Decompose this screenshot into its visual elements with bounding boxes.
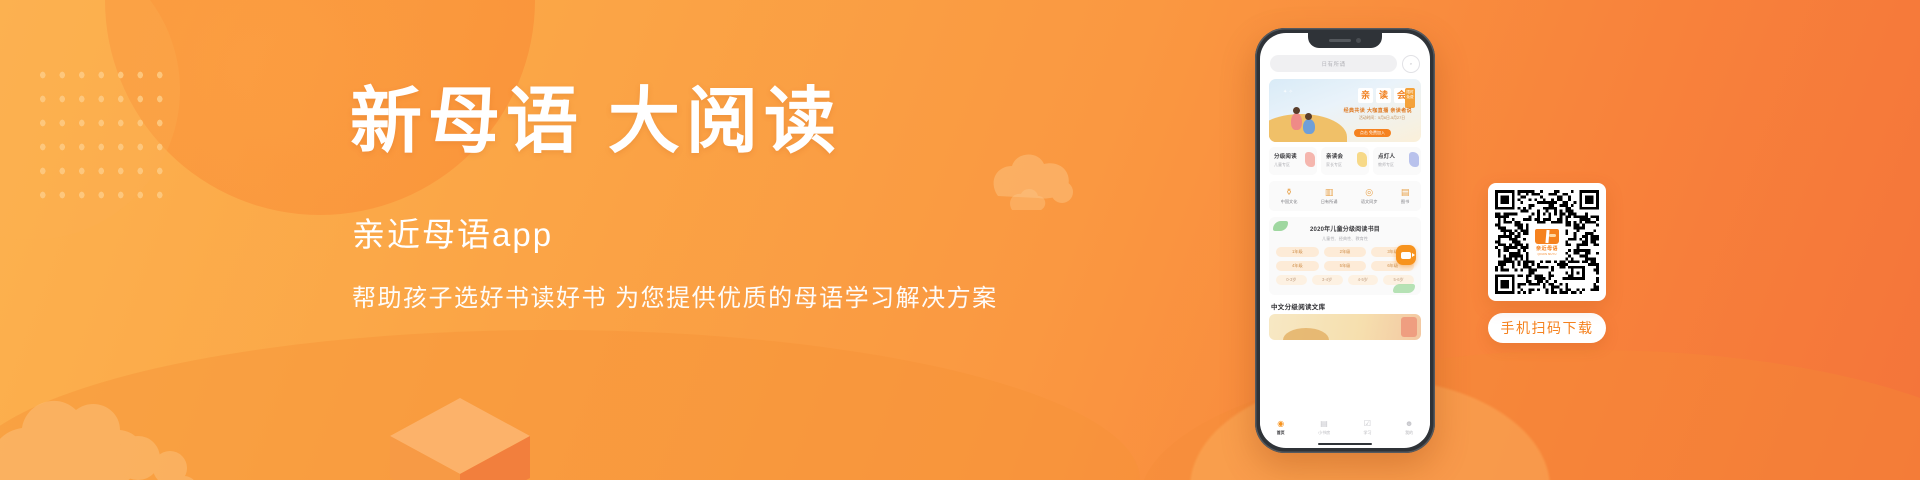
grade-tag-row: 1年级 2年级 3年级 — [1276, 247, 1414, 257]
study-icon: ☑ — [1364, 420, 1371, 428]
leaf-icon — [1393, 284, 1415, 293]
tab-profile[interactable]: ☻ 我的 — [1405, 420, 1413, 436]
quick-nav-label: 中国文化 — [1281, 199, 1298, 205]
age-tag-row: 0-3岁 3-4岁 4-5岁 5-6岁 — [1276, 275, 1414, 285]
bird-icon: ✦ ✧ — [1283, 89, 1293, 95]
cube-decoration-icon — [385, 394, 535, 480]
open-book-icon — [1535, 229, 1559, 244]
library-arc-decoration — [1283, 328, 1329, 340]
grade-tag-group: 1年级 2年级 3年级 4年级 5年级 6年级 0-3岁 3-4岁 4-5岁 5… — [1276, 247, 1414, 285]
bookroom-icon: ▤ — [1320, 420, 1328, 428]
download-button[interactable]: 手机扫码下载 — [1488, 313, 1606, 343]
background-hill-left — [0, 330, 1140, 480]
tab-label: 首页 — [1277, 430, 1285, 436]
phone-notch — [1308, 33, 1382, 48]
hero-badge: 限时免费 — [1405, 88, 1415, 108]
quick-nav-culture[interactable]: ⚱ 中国文化 — [1281, 188, 1298, 205]
age-tag[interactable]: 4-5岁 — [1348, 275, 1379, 285]
recite-icon: ▥ — [1325, 188, 1334, 197]
category-card-teacher[interactable]: 点灯人 教师专区 — [1373, 147, 1421, 175]
dot-grid-pattern — [33, 63, 169, 213]
hero-time: 活动时间：5月6日-5月27日 — [1359, 116, 1405, 121]
hero-banner-card[interactable]: ✦ ✧ 亲 读 会 限时免费 经典共读 大咖直播 亲读者说 活动时间：5月6日-… — [1269, 79, 1421, 142]
page-title: 新母语 大阅读 — [350, 84, 1050, 162]
promo-banner: 新母语 大阅读 亲近母语app 帮助孩子选好书读好书 为您提供优质的母语学习解决… — [0, 0, 1920, 480]
background-circle-small — [0, 0, 180, 240]
quick-nav-label: 语文同步 — [1361, 199, 1378, 205]
hero-join-button[interactable]: 点击 免费加入 — [1354, 129, 1391, 137]
library-section-title: 中文分级阅读文库 — [1271, 301, 1325, 311]
sync-icon: ◎ — [1365, 188, 1373, 197]
booklist-subtitle: 儿童性、经典性、教育性 — [1269, 236, 1421, 242]
quick-nav-recite[interactable]: ▥ 日有所诵 — [1321, 188, 1338, 205]
book-blob-icon — [1305, 152, 1315, 167]
kid-illustration-a — [1291, 113, 1302, 130]
app-search-bar[interactable]: 日有所诵 ⌕ — [1270, 55, 1420, 72]
booklist-card[interactable]: 2020年儿童分级阅读书目 儿童性、经典性、教育性 1年级 2年级 3年级 4年… — [1269, 217, 1421, 295]
search-input[interactable]: 日有所诵 — [1270, 55, 1397, 72]
quick-nav-books[interactable]: ▤ 图书 — [1401, 188, 1410, 205]
person-blob-icon — [1409, 152, 1419, 167]
phone-screen: 日有所诵 ⌕ ✦ ✧ 亲 读 会 限时免费 经典共读 大咖直播 亲读者说 活动时… — [1260, 33, 1430, 448]
book-blob-icon — [1357, 152, 1367, 167]
quick-nav-label: 图书 — [1401, 199, 1409, 205]
tab-label: 小书房 — [1318, 430, 1330, 436]
age-tag[interactable]: 3-4岁 — [1312, 275, 1343, 285]
home-indicator — [1318, 443, 1372, 446]
grade-tag-row: 4年级 5年级 6年级 — [1276, 261, 1414, 271]
banner-description: 帮助孩子选好书读好书 为您提供优质的母语学习解决方案 — [352, 278, 1050, 313]
quick-nav-label: 日有所诵 — [1321, 199, 1338, 205]
category-card-row: 分级阅读 儿童专区 亲读会 家长专区 点灯人 教师专区 — [1269, 147, 1421, 175]
kid-illustration-b — [1303, 119, 1315, 134]
logo-text-cn: 亲近母语 — [1536, 245, 1558, 252]
search-extra-icon[interactable]: ⌕ — [1402, 55, 1420, 73]
grade-tag[interactable]: 4年级 — [1276, 261, 1319, 271]
quick-nav-row: ⚱ 中国文化 ▥ 日有所诵 ◎ 语文同步 ▤ 图书 — [1269, 181, 1421, 211]
qr-card: 亲近母语 QINJIN MUYU — [1488, 183, 1606, 301]
front-camera-icon — [1356, 38, 1361, 43]
home-icon: ◉ — [1277, 420, 1284, 428]
speaker-icon — [1329, 39, 1351, 42]
grade-tag[interactable]: 5年级 — [1324, 261, 1367, 271]
age-tag[interactable]: 0-3岁 — [1276, 275, 1307, 285]
app-name-subtitle: 亲近母语app — [352, 208, 1050, 256]
bottom-tab-bar: ◉ 首页 ▤ 小书房 ☑ 学习 ☻ 我的 — [1260, 416, 1430, 440]
library-card[interactable] — [1269, 314, 1421, 340]
video-camera-icon — [1401, 252, 1411, 259]
library-thumb — [1401, 317, 1417, 337]
profile-icon: ☻ — [1405, 420, 1413, 428]
qr-code: 亲近母语 QINJIN MUYU — [1495, 190, 1599, 294]
category-card-graded-reading[interactable]: 分级阅读 儿童专区 — [1269, 147, 1317, 175]
grade-tag[interactable]: 2年级 — [1324, 247, 1367, 257]
hero-title: 亲 读 会 — [1358, 88, 1409, 103]
hero-title-char: 亲 — [1358, 88, 1373, 103]
copy-block: 新母语 大阅读 亲近母语app 帮助孩子选好书读好书 为您提供优质的母语学习解决… — [350, 84, 1050, 313]
tab-bookroom[interactable]: ▤ 小书房 — [1318, 420, 1330, 436]
book-icon: ▤ — [1401, 188, 1410, 197]
grade-tag[interactable]: 1年级 — [1276, 247, 1319, 257]
tab-study[interactable]: ☑ 学习 — [1363, 420, 1371, 436]
logo-text-en: QINJIN MUYU — [1537, 253, 1556, 256]
auspicious-cloud-icon — [0, 340, 218, 480]
video-play-button[interactable] — [1396, 245, 1416, 265]
tab-label: 我的 — [1405, 430, 1413, 436]
booklist-title: 2020年儿童分级阅读书目 — [1269, 224, 1421, 233]
culture-icon: ⚱ — [1285, 188, 1293, 197]
qr-download-block: 亲近母语 QINJIN MUYU 手机扫码下载 — [1488, 183, 1606, 343]
hero-subtitle: 经典共读 大咖直播 亲读者说 — [1344, 107, 1412, 114]
tab-label: 学习 — [1363, 430, 1371, 436]
phone-mockup: 日有所诵 ⌕ ✦ ✧ 亲 读 会 限时免费 经典共读 大咖直播 亲读者说 活动时… — [1255, 28, 1435, 453]
category-card-parent-club[interactable]: 亲读会 家长专区 — [1321, 147, 1369, 175]
qr-center-logo: 亲近母语 QINJIN MUYU — [1530, 225, 1564, 259]
tab-home[interactable]: ◉ 首页 — [1277, 420, 1285, 436]
hero-title-char: 读 — [1376, 88, 1391, 103]
quick-nav-sync[interactable]: ◎ 语文同步 — [1361, 188, 1378, 205]
